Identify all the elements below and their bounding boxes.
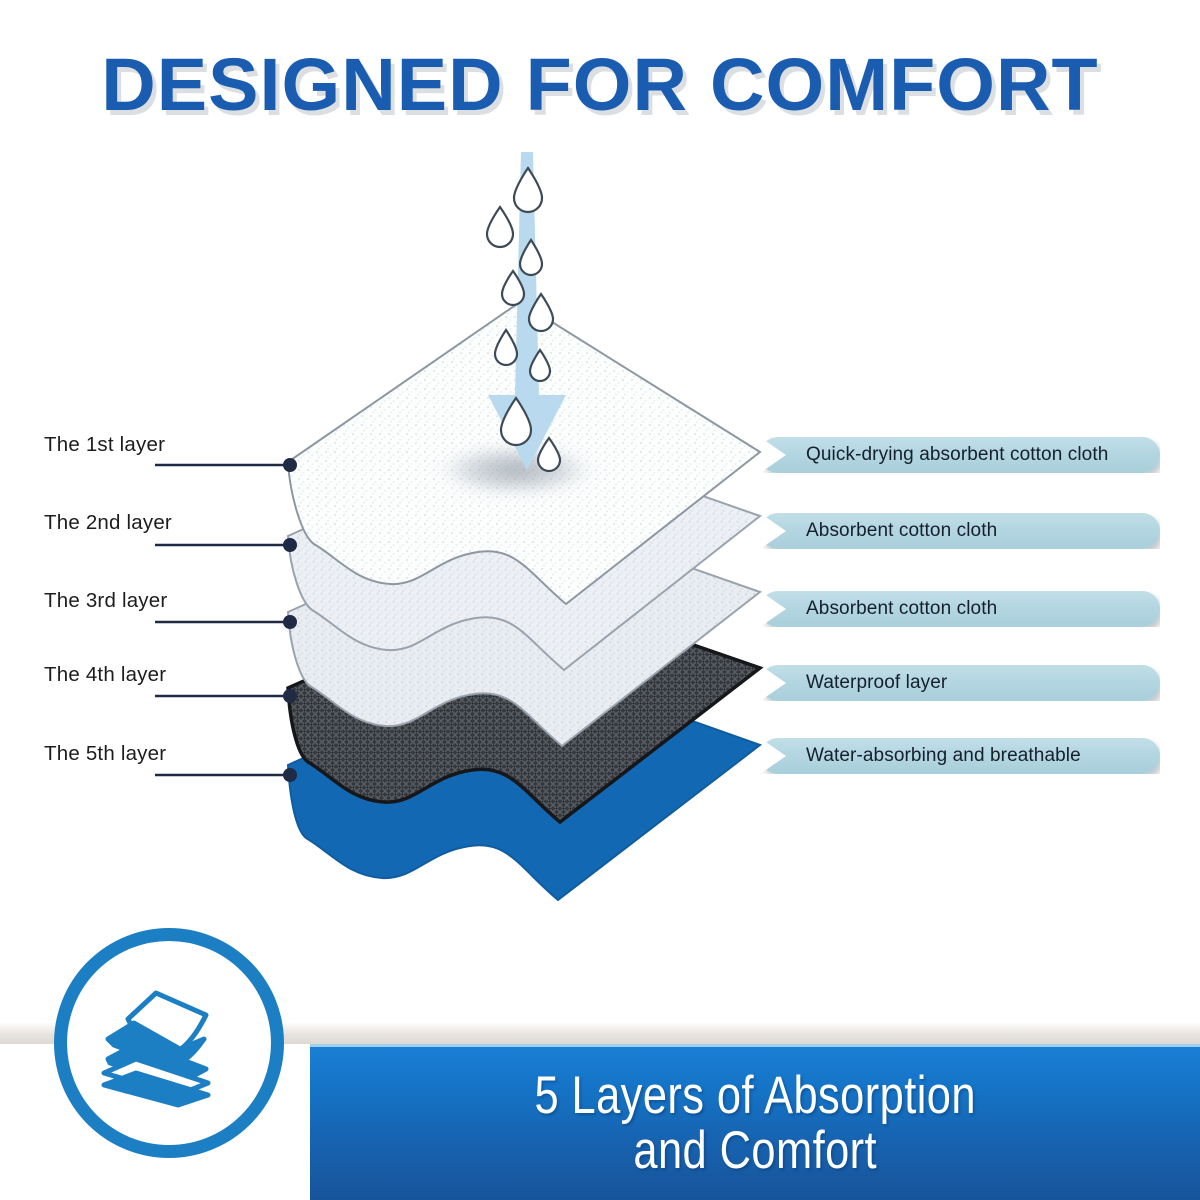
banner-text: 5 Layers of Absorption and Comfort: [534, 1069, 975, 1177]
callout-label-layer-5: Water-absorbing and breathable: [806, 745, 1081, 767]
callout-label-layer-2: Absorbent cotton cloth: [806, 520, 997, 542]
callout-layer-3[interactable]: Absorbent cotton cloth: [760, 591, 1160, 627]
bottom-banner: 5 Layers of Absorption and Comfort: [310, 1044, 1200, 1200]
banner-line-1: 5 Layers of Absorption: [534, 1066, 975, 1125]
pill-right-cap: [1120, 738, 1160, 774]
left-label-layer-1: The 1st layer: [44, 433, 165, 457]
layer-stack-illustration: The 1st layer The 2nd layer The 3rd laye…: [0, 0, 1200, 1030]
leader-lines: [155, 465, 286, 775]
callout-layer-4[interactable]: Waterproof layer: [760, 665, 1160, 701]
callout-layer-5[interactable]: Water-absorbing and breathable: [760, 738, 1160, 774]
left-label-layer-4: The 4th layer: [44, 663, 166, 687]
left-label-layer-3: The 3rd layer: [44, 589, 167, 613]
left-label-layer-2: The 2nd layer: [44, 511, 172, 535]
pill-right-cap: [1120, 591, 1160, 627]
callout-layer-2[interactable]: Absorbent cotton cloth: [760, 513, 1160, 549]
left-label-layer-5: The 5th layer: [44, 742, 166, 766]
wet-spot-shadow: [438, 444, 594, 496]
callout-label-layer-1: Quick-drying absorbent cotton cloth: [806, 444, 1108, 466]
callout-label-layer-4: Waterproof layer: [806, 672, 947, 694]
stacked-layers-icon: [94, 973, 244, 1113]
layers-badge: [54, 928, 284, 1158]
pill-right-cap: [1120, 437, 1160, 473]
banner-line-2: and Comfort: [534, 1124, 975, 1178]
callout-layer-1[interactable]: Quick-drying absorbent cotton cloth: [760, 437, 1160, 473]
pill-right-cap: [1120, 665, 1160, 701]
pill-right-cap: [1120, 513, 1160, 549]
callout-label-layer-3: Absorbent cotton cloth: [806, 598, 997, 620]
